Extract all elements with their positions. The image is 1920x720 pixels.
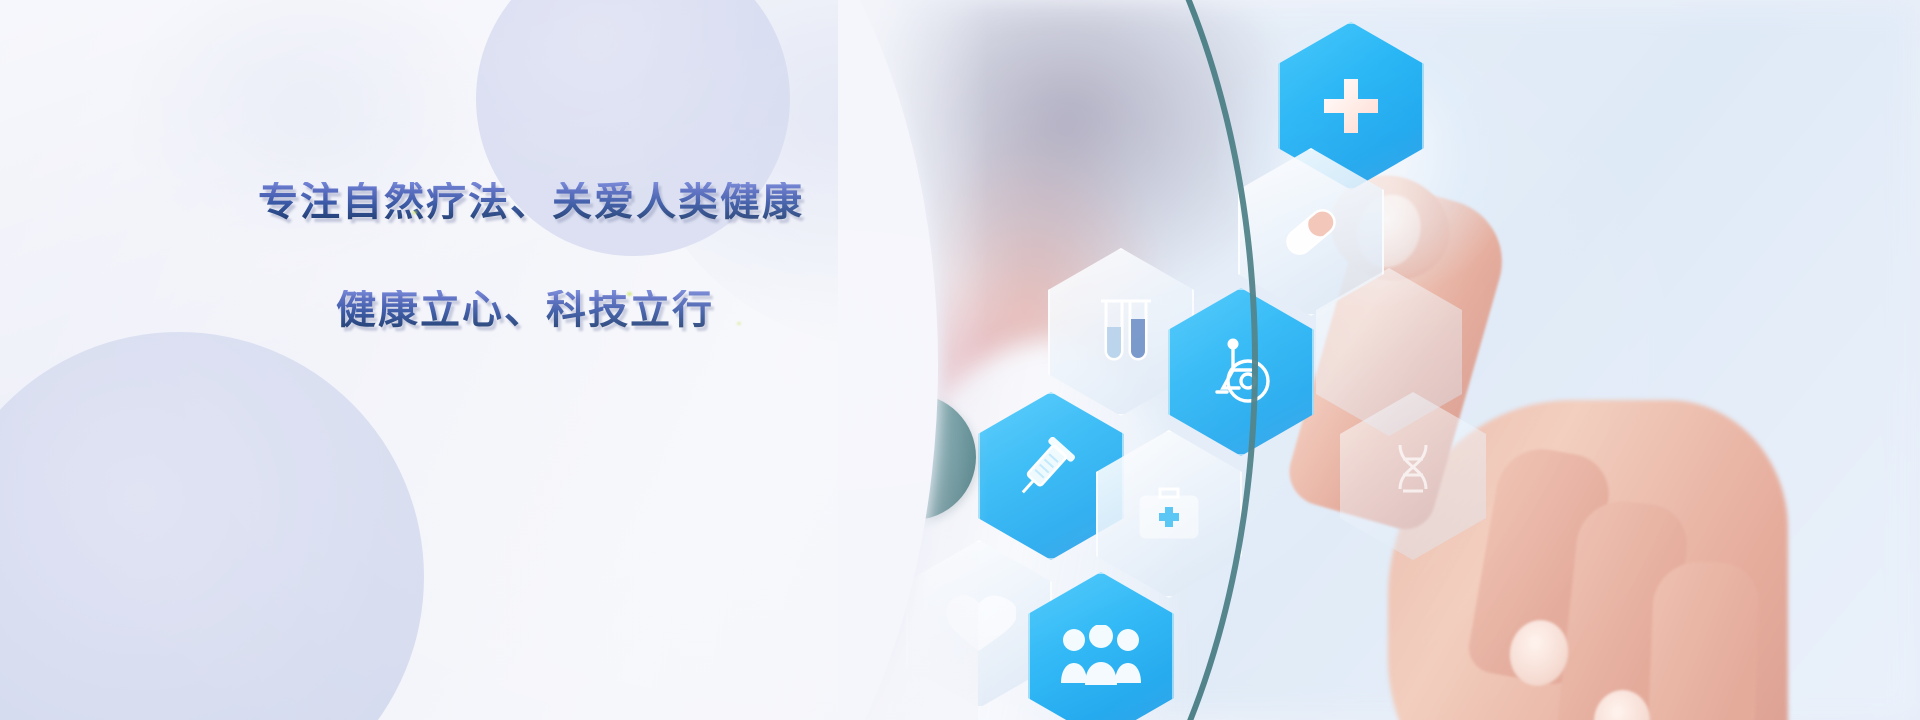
photo-left-edge-fade bbox=[838, 0, 988, 720]
left-light-wash bbox=[0, 0, 900, 720]
headline-line-1: 专注自然疗法、关爱人类健康 bbox=[258, 182, 858, 222]
doctor-photo-panel bbox=[838, 0, 1920, 720]
health-banner: 专注自然疗法、关爱人类健康 健康立心、科技立行 bbox=[0, 0, 1920, 720]
sparkle-accent-3 bbox=[737, 322, 741, 325]
sparkle-accent-2 bbox=[627, 292, 632, 296]
sparkle-accent-1 bbox=[412, 211, 417, 214]
medical-cross-icon bbox=[1318, 73, 1384, 139]
headline-line-2: 健康立心、科技立行 bbox=[336, 290, 858, 330]
dna-helix-icon bbox=[1382, 441, 1444, 511]
headline-block: 专注自然疗法、关爱人类健康 健康立心、科技立行 bbox=[258, 182, 858, 330]
capsule-pill-icon bbox=[1274, 195, 1348, 269]
